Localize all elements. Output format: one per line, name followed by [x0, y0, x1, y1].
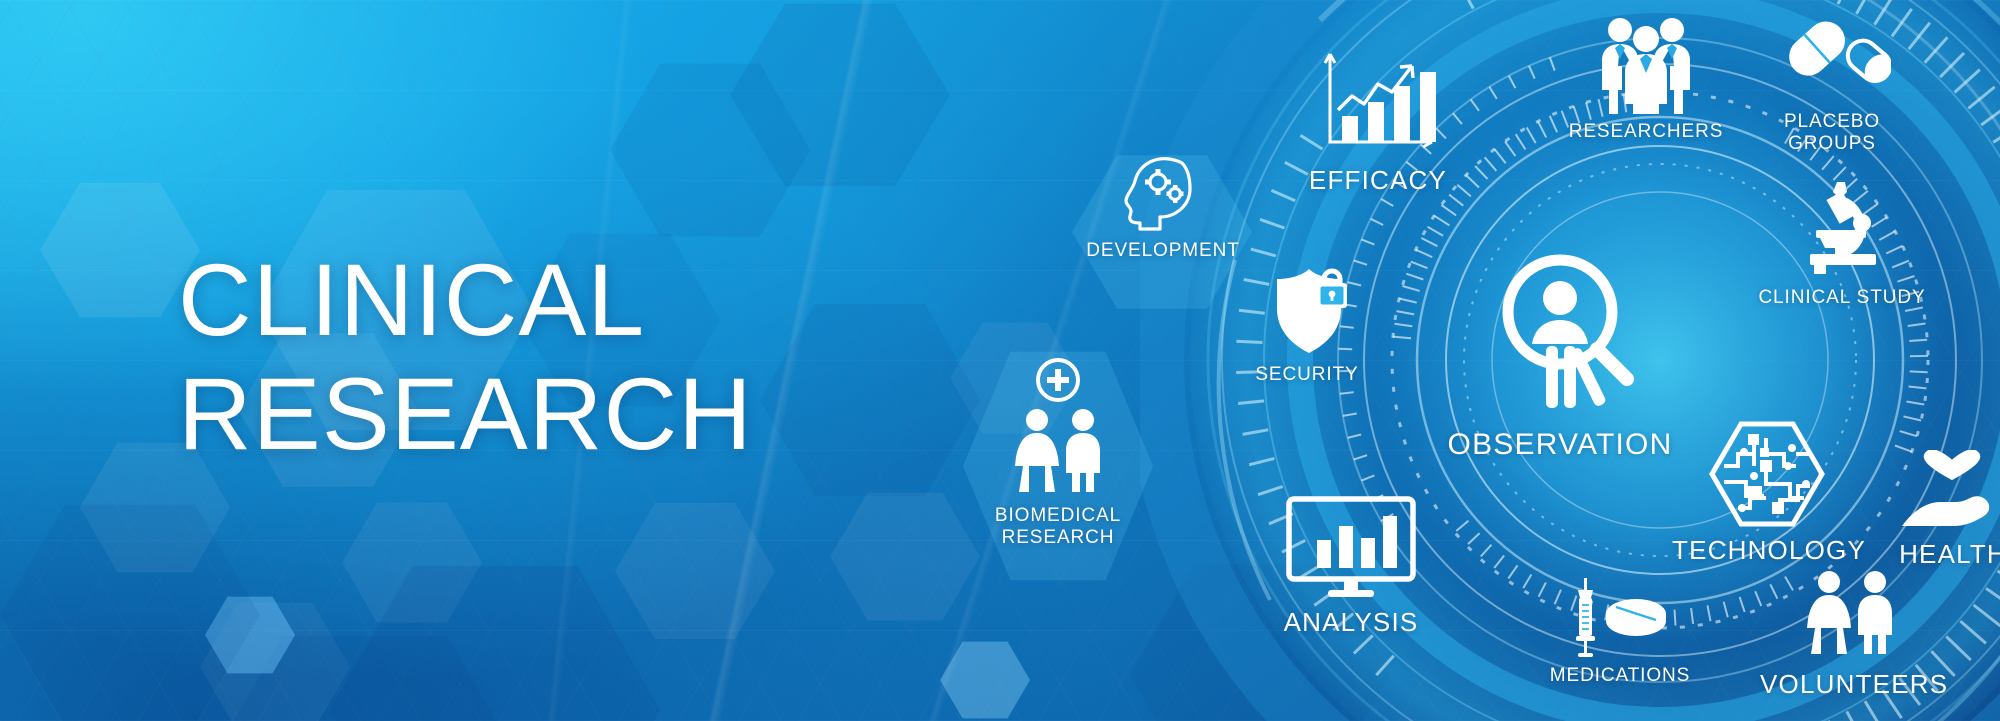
icon-label-efficacy: EFFICACY — [1288, 165, 1468, 196]
hexagon-circuit-icon — [1708, 420, 1826, 528]
syringe-tablet-icon — [1564, 578, 1676, 658]
icon-label-medications: MEDICATIONS — [1530, 665, 1710, 687]
icon-label-health: HEALTH — [1878, 539, 2000, 570]
icon-item-health[interactable]: HEALTH — [1878, 450, 2000, 570]
icon-item-observation[interactable]: OBSERVATION — [1430, 250, 1690, 462]
capsule-pills-icon — [1773, 8, 1891, 104]
head-gears-icon — [1120, 155, 1206, 233]
icon-label-biomedical-research: BIOMEDICAL RESEARCH — [960, 505, 1156, 550]
icon-label-volunteers: VOLUNTEERS — [1760, 669, 1940, 700]
couple-icon — [1797, 570, 1903, 662]
icon-item-medications[interactable]: MEDICATIONS — [1530, 578, 1710, 687]
icon-item-biomedical-research[interactable]: BIOMEDICAL RESEARCH — [960, 358, 1156, 550]
icon-item-volunteers[interactable]: VOLUNTEERS — [1760, 570, 1940, 700]
male-figure — [1858, 571, 1892, 654]
icon-item-technology[interactable]: TECHNOLOGY — [1672, 420, 1862, 566]
monitor-bars-icon — [1284, 494, 1418, 600]
icon-label-researchers: RESEARCHERS — [1556, 121, 1736, 143]
icon-label-development: DEVELOPMENT — [1073, 240, 1253, 262]
icon-label-security: SECURITY — [1222, 364, 1392, 386]
icon-label-technology: TECHNOLOGY — [1672, 535, 1862, 566]
microscope-icon — [1790, 176, 1894, 280]
icon-label-placebo-groups: PLACEBO GROUPS — [1742, 111, 1922, 156]
icon-item-security[interactable]: SECURITY — [1222, 265, 1392, 386]
female-figure — [1807, 571, 1851, 654]
tablet — [1606, 599, 1666, 636]
hand-heart-icon — [1900, 450, 2000, 532]
plus-circle-couple-icon — [1003, 358, 1113, 498]
icon-label-observation: OBSERVATION — [1430, 427, 1690, 462]
icon-item-analysis[interactable]: ANALYSIS — [1258, 494, 1444, 638]
shield-padlock-icon — [1261, 265, 1353, 357]
icon-item-researchers[interactable]: RESEARCHERS — [1556, 14, 1736, 143]
icon-item-development[interactable]: DEVELOPMENT — [1073, 155, 1253, 262]
icon-item-efficacy[interactable]: EFFICACY — [1288, 48, 1468, 196]
icon-label-analysis: ANALYSIS — [1258, 607, 1444, 638]
page-title: CLINICAL RESEARCH — [178, 243, 753, 471]
plus-circle — [1038, 360, 1078, 400]
three-people-icon — [1592, 14, 1700, 114]
magnifier-person-icon — [1484, 250, 1636, 420]
icon-label-clinical-study: CLINICAL STUDY — [1742, 287, 1942, 309]
icon-item-placebo-groups[interactable]: PLACEBO GROUPS — [1742, 8, 1922, 156]
icon-item-clinical-study[interactable]: CLINICAL STUDY — [1742, 176, 1942, 309]
bar-chart-arrow-icon — [1316, 48, 1440, 158]
male-figure — [1066, 409, 1100, 492]
female-figure — [1015, 409, 1059, 492]
clinical-research-banner: CLINICAL RESEARCH DEVELOPMENT — [0, 0, 2000, 721]
